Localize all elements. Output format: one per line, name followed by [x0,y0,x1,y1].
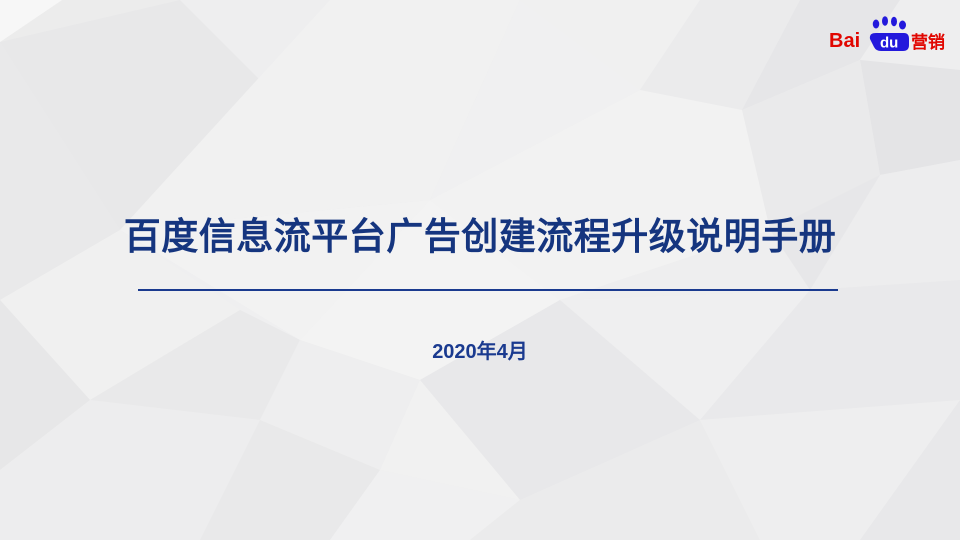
title-slide: Bai du 营销 百度信息流平台广告创建流程升级说明手册 2020年4月 [0,0,960,540]
title-block: 百度信息流平台广告创建流程升级说明手册 2020年4月 [0,0,960,540]
title-divider-rule [138,289,838,291]
page-subtitle-date: 2020年4月 [0,339,960,365]
page-title: 百度信息流平台广告创建流程升级说明手册 [0,211,960,263]
